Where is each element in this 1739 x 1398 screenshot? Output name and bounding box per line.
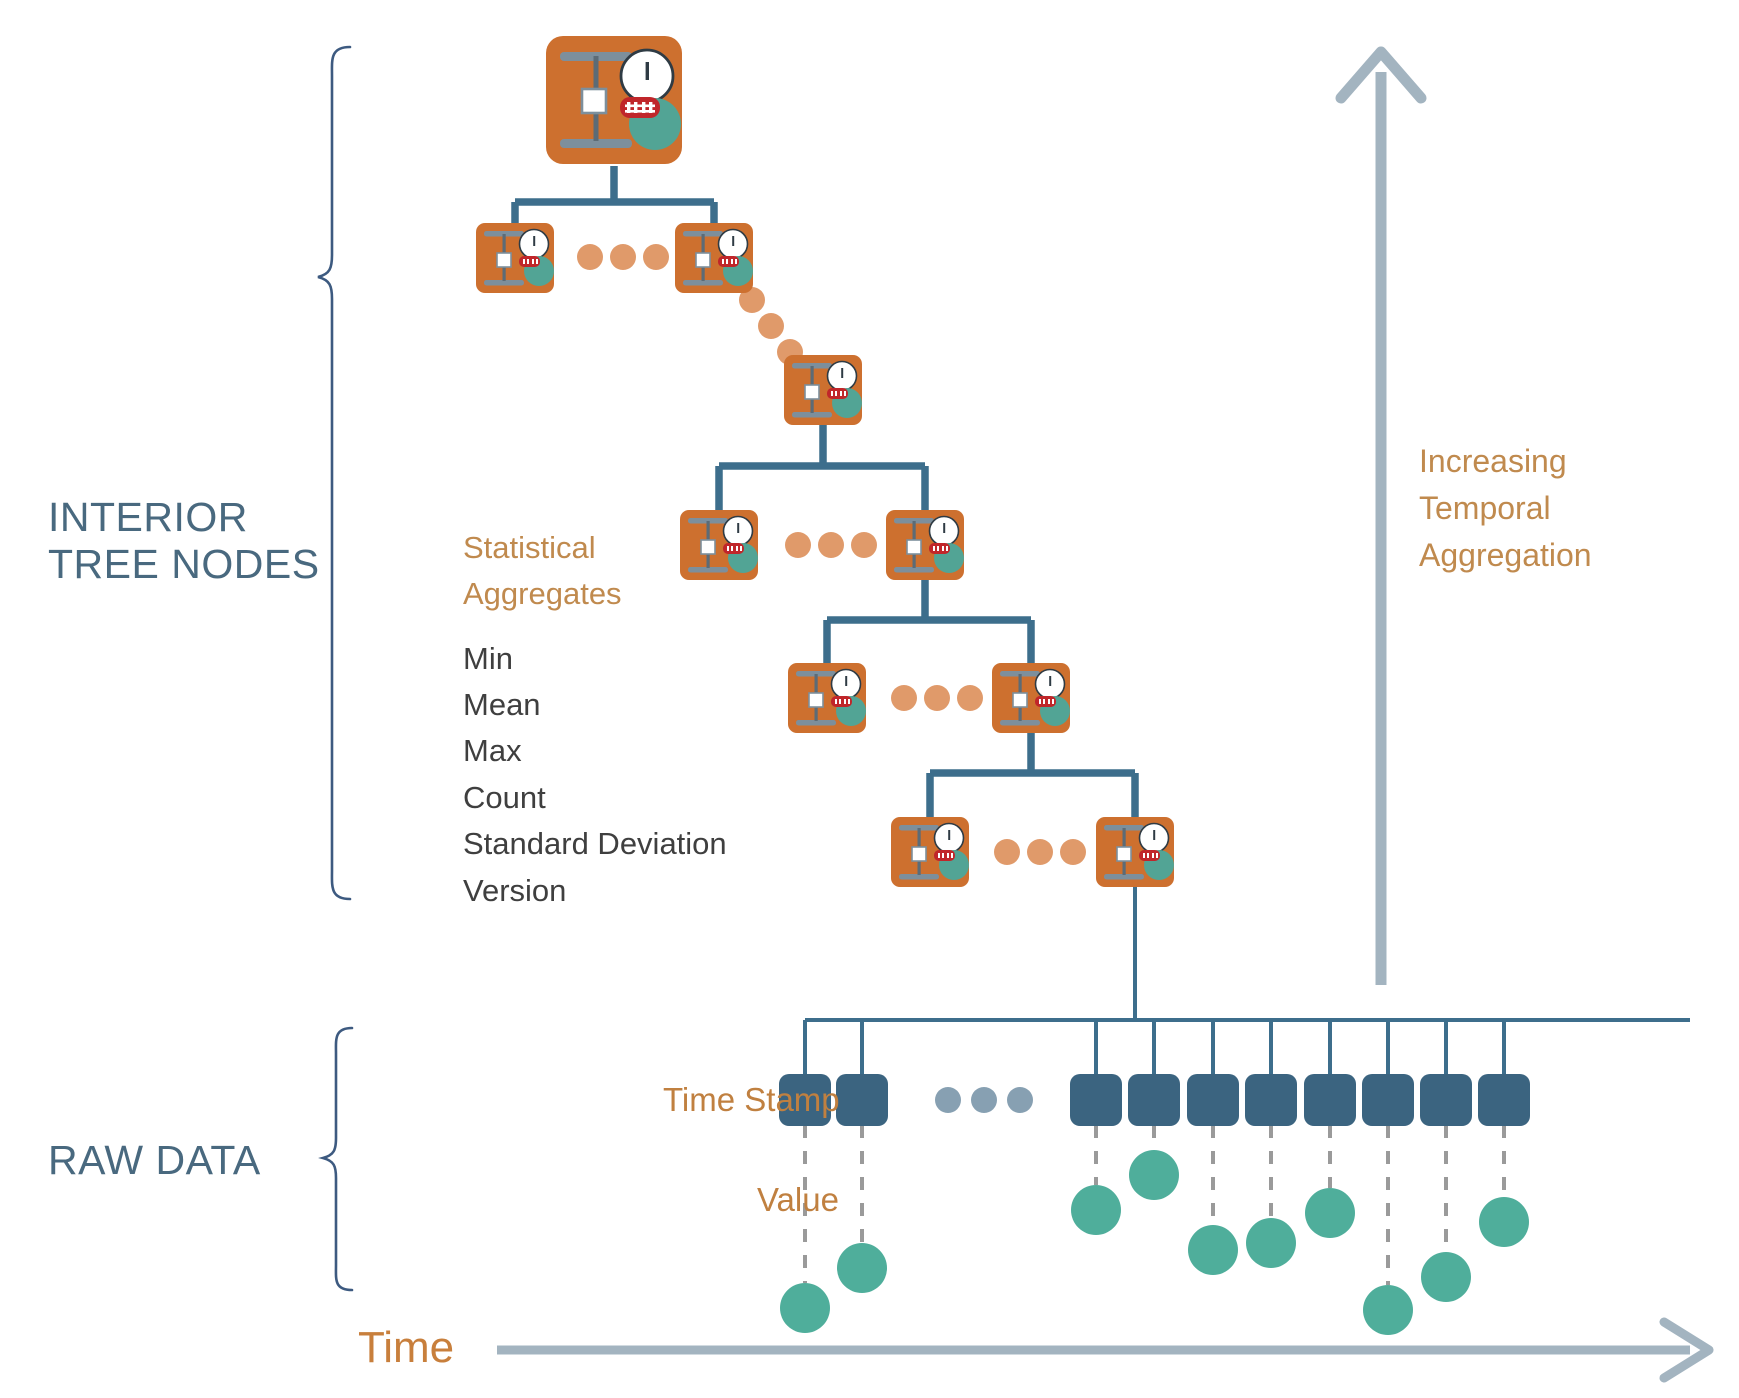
increasing-temporal-aggregation-line3: Aggregation bbox=[1419, 534, 1592, 578]
statistical-aggregates-heading-line1: Statistical bbox=[463, 527, 596, 569]
timestamp-box bbox=[1245, 1074, 1297, 1126]
value-circles bbox=[780, 1150, 1529, 1335]
raw-data-brace bbox=[323, 1028, 352, 1290]
tree-node-l4-left[interactable] bbox=[788, 663, 866, 733]
interior-tree-nodes-label-line1: INTERIOR bbox=[48, 493, 248, 541]
value-circle bbox=[1246, 1218, 1296, 1268]
time-axis-label: Time bbox=[358, 1322, 454, 1374]
tree-node-l5-right[interactable] bbox=[1096, 817, 1174, 887]
timestamp-box bbox=[1070, 1074, 1122, 1126]
timestamp-ellipsis bbox=[935, 1087, 1033, 1113]
interior-brace bbox=[318, 47, 350, 899]
timestamp-box bbox=[1362, 1074, 1414, 1126]
value-circle bbox=[1305, 1188, 1355, 1238]
tree-node-l4-right[interactable] bbox=[992, 663, 1070, 733]
value-circle bbox=[1421, 1252, 1471, 1302]
value-circle bbox=[1479, 1197, 1529, 1247]
interior-tree-nodes-label-line2: TREE NODES bbox=[48, 540, 320, 588]
timestamp-box bbox=[1478, 1074, 1530, 1126]
tree-node-l2[interactable] bbox=[784, 355, 862, 425]
timestamp-box bbox=[1420, 1074, 1472, 1126]
tree-node-l1-right[interactable] bbox=[675, 223, 753, 293]
timestamp-box bbox=[836, 1074, 888, 1126]
aggregate-item-count: Count bbox=[463, 777, 546, 819]
timestamp-box bbox=[1128, 1074, 1180, 1126]
diagonal-ellipsis bbox=[739, 287, 803, 365]
statistical-aggregates-heading-line2: Aggregates bbox=[463, 573, 622, 615]
tree-node-l3-right[interactable] bbox=[886, 510, 964, 580]
increasing-temporal-aggregation-line2: Temporal bbox=[1419, 487, 1551, 531]
aggregate-item-standard-deviation: Standard Deviation bbox=[463, 823, 727, 865]
diagram-svg bbox=[0, 0, 1739, 1398]
value-circle bbox=[780, 1283, 830, 1333]
value-circle bbox=[1363, 1285, 1413, 1335]
sibling-ellipsis-level5 bbox=[994, 839, 1086, 865]
aggregate-item-min: Min bbox=[463, 638, 513, 680]
increasing-aggregation-arrow bbox=[1341, 52, 1421, 985]
tree-node-root[interactable] bbox=[546, 36, 682, 164]
sibling-ellipsis-level3 bbox=[785, 532, 877, 558]
aggregate-item-version: Version bbox=[463, 870, 566, 912]
time-axis-arrow bbox=[497, 1322, 1709, 1378]
timestamp-value-links bbox=[805, 1125, 1504, 1285]
raw-data-bus bbox=[805, 886, 1690, 1075]
aggregate-item-mean: Mean bbox=[463, 684, 541, 726]
value-circle bbox=[1071, 1185, 1121, 1235]
timestamp-box bbox=[1304, 1074, 1356, 1126]
tree-node-l1-left[interactable] bbox=[476, 223, 554, 293]
tree-node-l5-left[interactable] bbox=[891, 817, 969, 887]
value-label: Value bbox=[757, 1181, 839, 1220]
diagram-canvas: INTERIOR TREE NODES RAW DATA Statistical… bbox=[0, 0, 1739, 1398]
tree-node-l3-left[interactable] bbox=[680, 510, 758, 580]
value-circle bbox=[1129, 1150, 1179, 1200]
aggregate-item-max: Max bbox=[463, 730, 522, 772]
sibling-ellipsis-level4 bbox=[891, 685, 983, 711]
increasing-temporal-aggregation-line1: Increasing bbox=[1419, 440, 1567, 484]
raw-data-label: RAW DATA bbox=[48, 1136, 261, 1184]
value-circle bbox=[837, 1243, 887, 1293]
time-stamp-label: Time Stamp bbox=[663, 1081, 840, 1120]
timestamp-box bbox=[1187, 1074, 1239, 1126]
value-circle bbox=[1188, 1225, 1238, 1275]
sibling-ellipsis-level1 bbox=[577, 244, 669, 270]
timestamp-boxes bbox=[779, 1074, 1530, 1126]
